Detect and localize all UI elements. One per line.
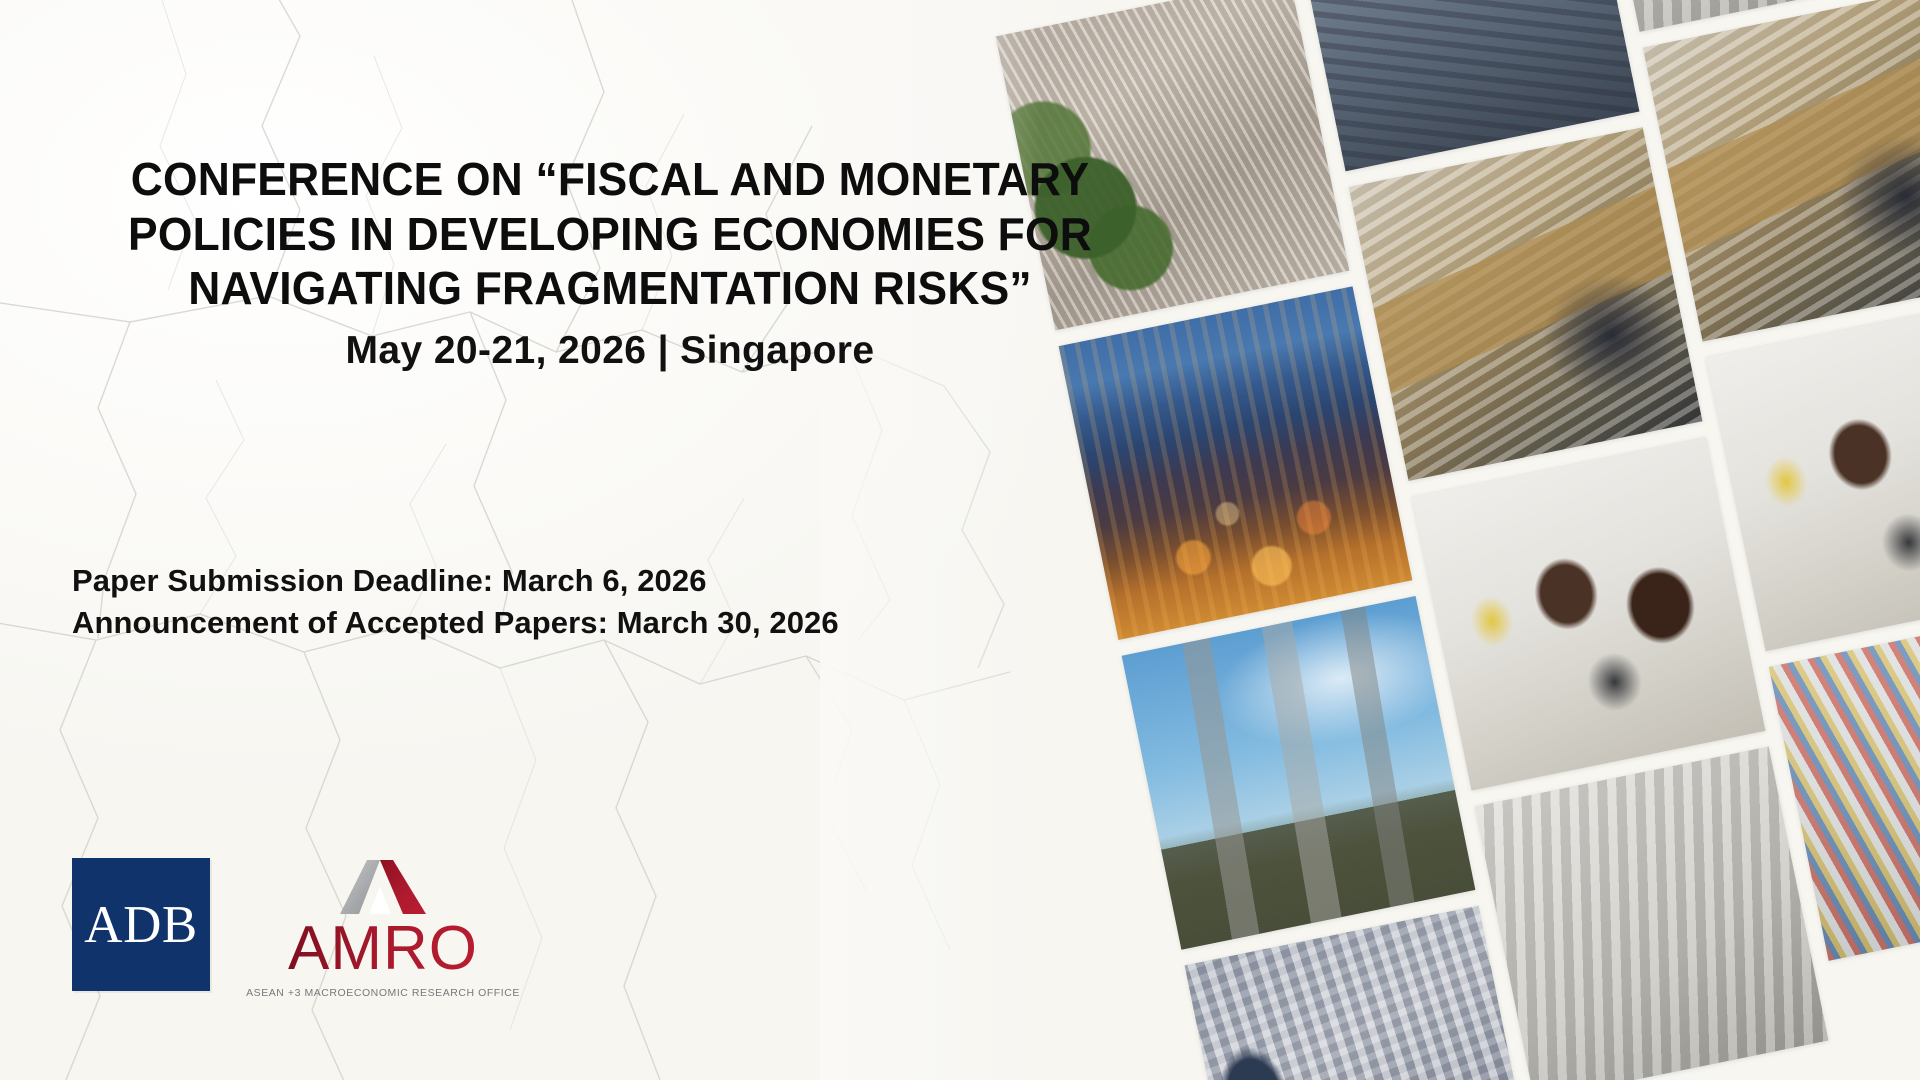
acceptance-announcement-date: Announcement of Accepted Papers: March 3… [72, 602, 1132, 644]
adb-logo: ADB [72, 858, 210, 991]
warehouse-edge-image [1643, 0, 1920, 342]
event-date-location: May 20-21, 2026 | Singapore [40, 328, 1180, 375]
logo-row: ADB [72, 858, 492, 999]
text-column: CONFERENCE ON “FISCAL AND MONETARY POLIC… [0, 0, 1230, 1080]
collage-photo-warehouse-edge [1643, 0, 1920, 342]
students-robotics-image [1412, 437, 1766, 791]
warehouse-worker-image [1349, 127, 1703, 481]
amro-chevron-a-icon [333, 860, 433, 914]
collage-photo-warehouse-worker [1349, 127, 1703, 481]
title-line-1: CONFERENCE ON “FISCAL AND MONETARY [60, 152, 1160, 207]
amro-wordmark: AMRO [288, 918, 478, 980]
title-line-2: POLICIES IN DEVELOPING ECONOMIES FOR [60, 207, 1160, 262]
paper-submission-deadline: Paper Submission Deadline: March 6, 2026 [72, 560, 1132, 602]
adb-logo-text: ADB [84, 899, 197, 952]
office-edge-image [1475, 747, 1829, 1080]
deadlines-block: Paper Submission Deadline: March 6, 2026… [72, 560, 1132, 644]
conference-poster: CONFERENCE ON “FISCAL AND MONETARY POLIC… [0, 0, 1920, 1080]
collage-photo-office-edge-bottom [1475, 747, 1829, 1080]
amro-tagline: ASEAN +3 MACROECONOMIC RESEARCH OFFICE [246, 987, 520, 999]
page-title: CONFERENCE ON “FISCAL AND MONETARY POLIC… [40, 152, 1180, 375]
collage-photo-students-robotics [1412, 437, 1766, 791]
amro-logo: AMRO ASEAN +3 MACROECONOMIC RESEARCH OFF… [274, 858, 492, 999]
title-line-3: NAVIGATING FRAGMENTATION RISKS” [60, 261, 1160, 316]
